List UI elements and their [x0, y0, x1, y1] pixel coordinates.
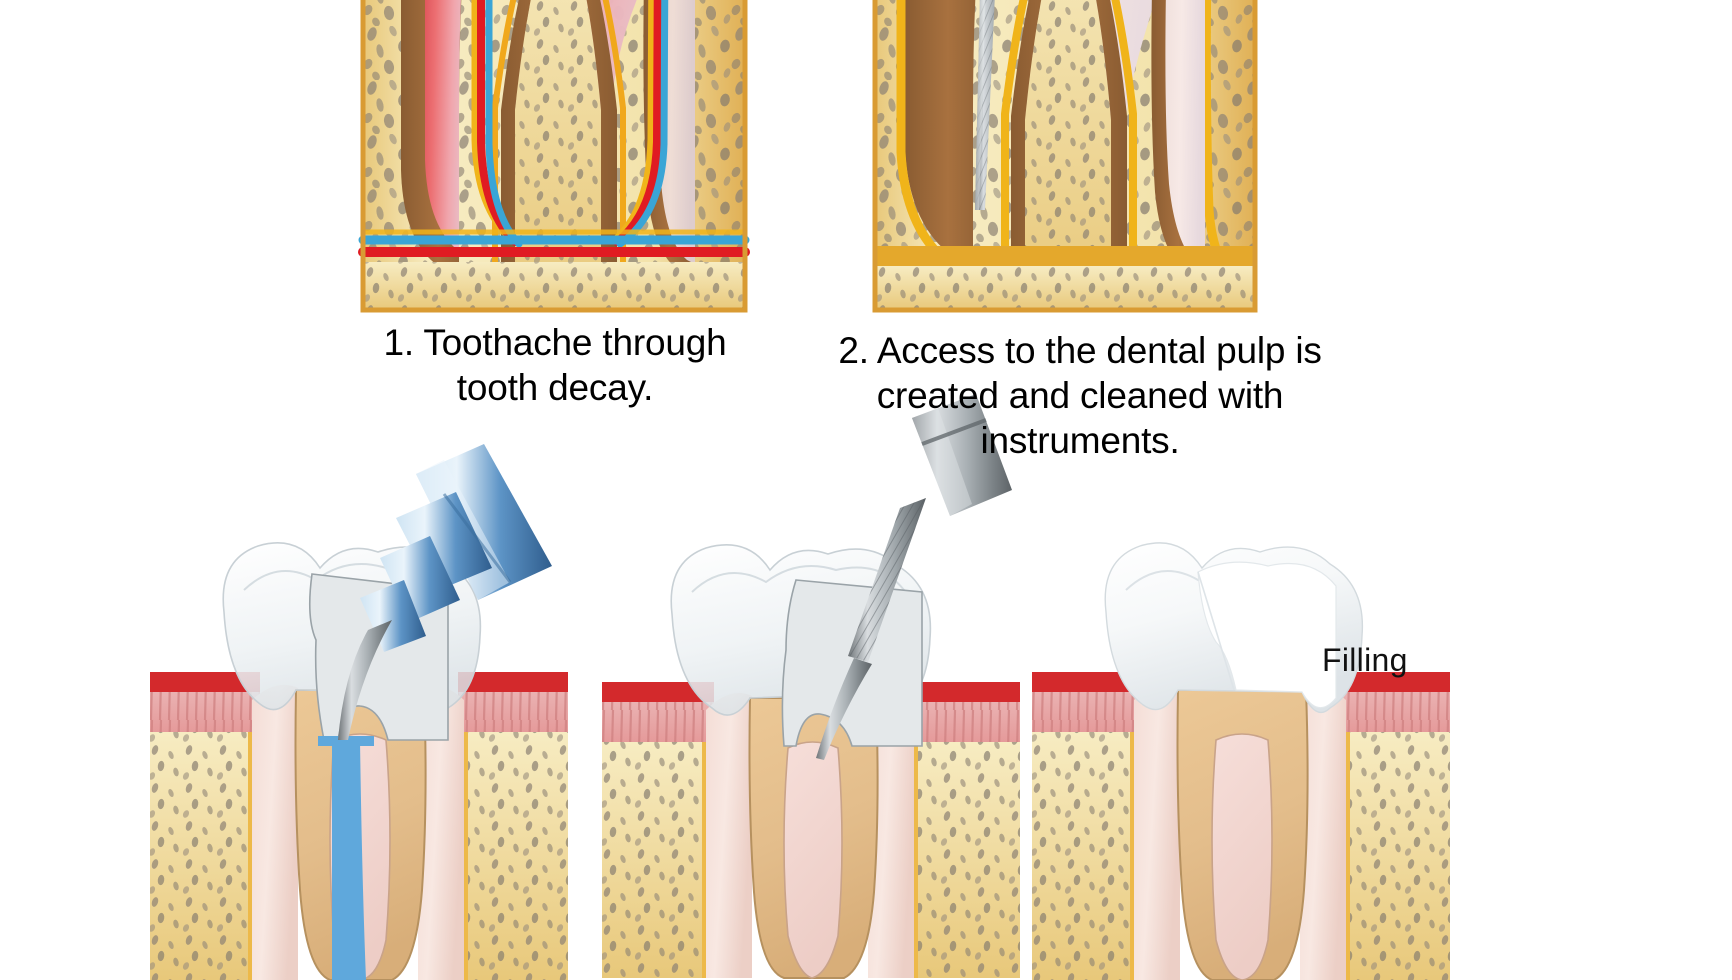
periodontium-left — [1032, 672, 1146, 980]
periodontium-right — [1334, 672, 1450, 980]
step-2-caption: 2. Access to the dental pulp is created … — [800, 328, 1360, 463]
step-3-illustration — [148, 440, 568, 980]
gingiva-left — [706, 693, 752, 978]
gingiva-left — [252, 685, 298, 980]
step-1-caption: 1. Toothache through tooth decay. — [365, 320, 745, 410]
canal-base-band — [875, 246, 1255, 266]
root-pulp — [784, 742, 842, 978]
step-4-illustration — [600, 430, 1020, 978]
periodontium-left — [602, 682, 718, 978]
dental-procedure-diagram: 1. Toothache through tooth decay. 2. Acc… — [0, 0, 1732, 973]
periodontium-left — [150, 672, 264, 980]
step-1-illustration — [363, 0, 745, 310]
root-pulp — [1212, 734, 1272, 980]
periodontium-right — [452, 672, 568, 980]
filling-label: Filling — [1322, 642, 1408, 679]
gingiva-left — [1134, 685, 1180, 980]
step-5-illustration — [1030, 440, 1450, 980]
step-2-illustration — [875, 0, 1255, 310]
